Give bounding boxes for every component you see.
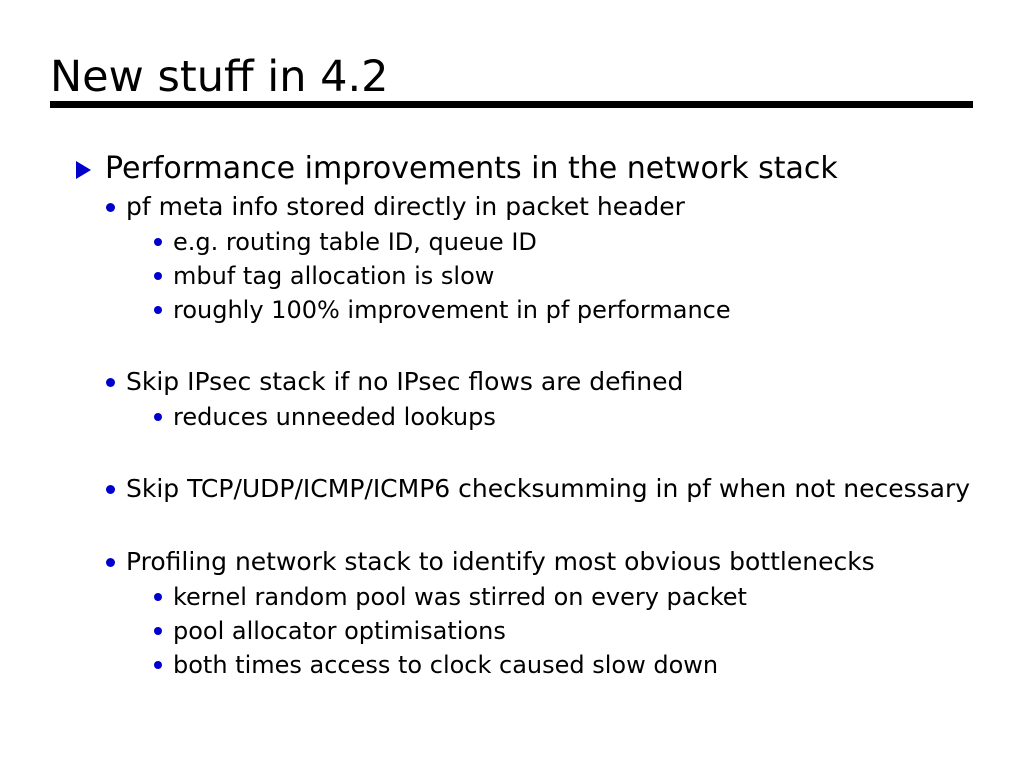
title-block: New stuff in 4.2 bbox=[50, 52, 974, 102]
dot-bullet-icon bbox=[106, 203, 115, 212]
dot-bullet-icon bbox=[106, 378, 115, 387]
list-group-spacer bbox=[0, 327, 1024, 364]
page-title: New stuff in 4.2 bbox=[50, 52, 974, 102]
dot-bullet-icon bbox=[154, 627, 162, 635]
list-item: roughly 100% improvement in pf performan… bbox=[0, 293, 1024, 327]
list-item: both times access to clock caused slow d… bbox=[0, 648, 1024, 682]
list-item: reduces unneeded lookups bbox=[0, 400, 1024, 434]
list-item-label: pool allocator optimisations bbox=[173, 614, 984, 648]
list-item-label: Performance improvements in the network … bbox=[105, 148, 994, 189]
dot-bullet-icon bbox=[154, 661, 162, 669]
list-item: Profiling network stack to identify most… bbox=[0, 544, 1024, 580]
list-item-label: reduces unneeded lookups bbox=[173, 400, 984, 434]
list-group-spacer bbox=[0, 434, 1024, 471]
list-item: e.g. routing table ID, queue ID bbox=[0, 225, 1024, 259]
title-underline-rule bbox=[50, 101, 973, 108]
list-item-label: pf meta info stored directly in packet h… bbox=[126, 189, 984, 224]
list-item-label: Profiling network stack to identify most… bbox=[126, 544, 984, 579]
list-item-label: roughly 100% improvement in pf performan… bbox=[173, 293, 984, 327]
slide-body: Performance improvements in the network … bbox=[0, 148, 1024, 682]
list-group-spacer bbox=[0, 507, 1024, 544]
dot-bullet-icon bbox=[154, 306, 162, 314]
list-item-label: both times access to clock caused slow d… bbox=[173, 648, 984, 682]
list-item: Skip IPsec stack if no IPsec flows are d… bbox=[0, 364, 1024, 400]
list-item-label: Skip IPsec stack if no IPsec flows are d… bbox=[126, 364, 984, 399]
dot-bullet-icon bbox=[154, 413, 162, 421]
dot-bullet-icon bbox=[106, 485, 115, 494]
list-item: kernel random pool was stirred on every … bbox=[0, 580, 1024, 614]
list-item: pf meta info stored directly in packet h… bbox=[0, 189, 1024, 225]
presentation-slide: New stuff in 4.2 Performance improvement… bbox=[0, 0, 1024, 768]
list-item: mbuf tag allocation is slow bbox=[0, 259, 1024, 293]
list-item: Skip TCP/UDP/ICMP/ICMP6 checksumming in … bbox=[0, 471, 1024, 507]
triangle-bullet-icon bbox=[76, 161, 91, 179]
list-item-label: Skip TCP/UDP/ICMP/ICMP6 checksumming in … bbox=[126, 471, 984, 506]
list-item: pool allocator optimisations bbox=[0, 614, 1024, 648]
list-item: Performance improvements in the network … bbox=[0, 148, 1024, 189]
dot-bullet-icon bbox=[106, 558, 115, 567]
list-item-label: kernel random pool was stirred on every … bbox=[173, 580, 984, 614]
list-item-label: e.g. routing table ID, queue ID bbox=[173, 225, 984, 259]
list-item-label: mbuf tag allocation is slow bbox=[173, 259, 984, 293]
dot-bullet-icon bbox=[154, 272, 162, 280]
dot-bullet-icon bbox=[154, 593, 162, 601]
dot-bullet-icon bbox=[154, 238, 162, 246]
